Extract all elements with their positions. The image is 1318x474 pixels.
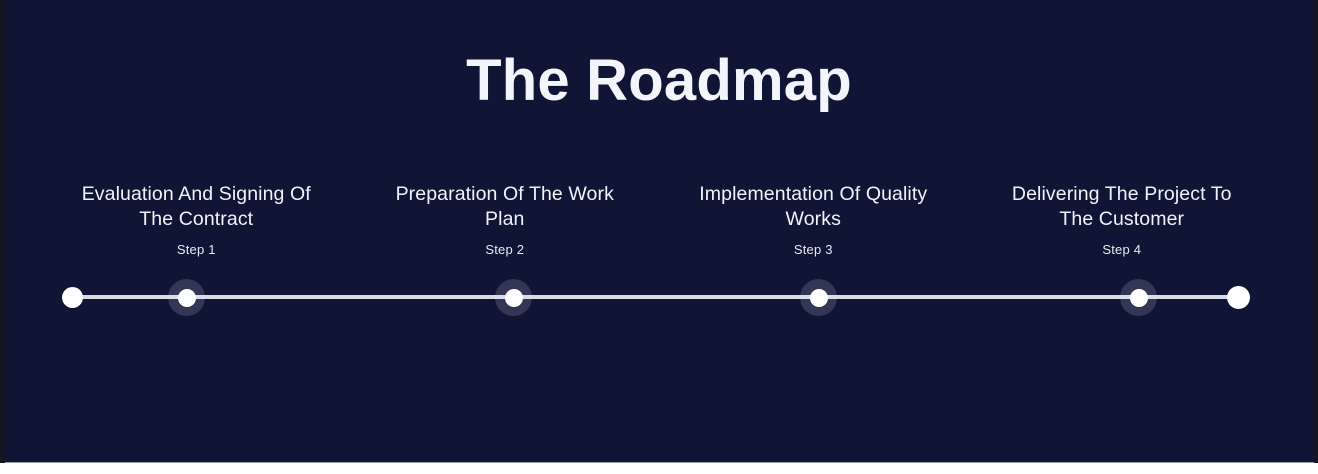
timeline-start-dot-icon	[62, 287, 83, 308]
timeline-node-2[interactable]	[495, 279, 532, 316]
step-label-4: Step 4	[1102, 241, 1141, 258]
timeline-node-1[interactable]	[168, 279, 205, 316]
steps-row: Evaluation And Signing Of The Contract S…	[42, 182, 1276, 277]
timeline-node-4[interactable]	[1120, 279, 1157, 316]
timeline-node-dot-icon	[1130, 289, 1148, 307]
timeline-node-3[interactable]	[800, 279, 837, 316]
timeline-end-dot-icon	[1227, 286, 1250, 309]
timeline-node-dot-icon	[810, 289, 828, 307]
step-label-2: Step 2	[485, 241, 524, 258]
step-column-3[interactable]: Implementation Of Quality Works Step 3	[659, 182, 968, 277]
step-title-2: Preparation Of The Work Plan	[380, 182, 630, 232]
step-label-3: Step 3	[794, 241, 833, 258]
step-title-4: Delivering The Project To The Customer	[997, 182, 1247, 232]
step-column-2[interactable]: Preparation Of The Work Plan Step 2	[351, 182, 660, 277]
roadmap-slide: The Roadmap Evaluation And Signing Of Th…	[0, 0, 1318, 474]
page-title: The Roadmap	[0, 48, 1318, 114]
timeline-node-dot-icon	[505, 289, 523, 307]
slide-bottom-strip	[0, 463, 1318, 474]
timeline-track	[72, 295, 1238, 299]
roadmap-timeline	[0, 270, 1318, 326]
step-label-1: Step 1	[177, 241, 216, 258]
step-column-1[interactable]: Evaluation And Signing Of The Contract S…	[42, 182, 351, 277]
step-title-1: Evaluation And Signing Of The Contract	[71, 182, 321, 232]
step-title-3: Implementation Of Quality Works	[688, 182, 938, 232]
timeline-node-dot-icon	[178, 289, 196, 307]
step-column-4[interactable]: Delivering The Project To The Customer S…	[968, 182, 1277, 277]
